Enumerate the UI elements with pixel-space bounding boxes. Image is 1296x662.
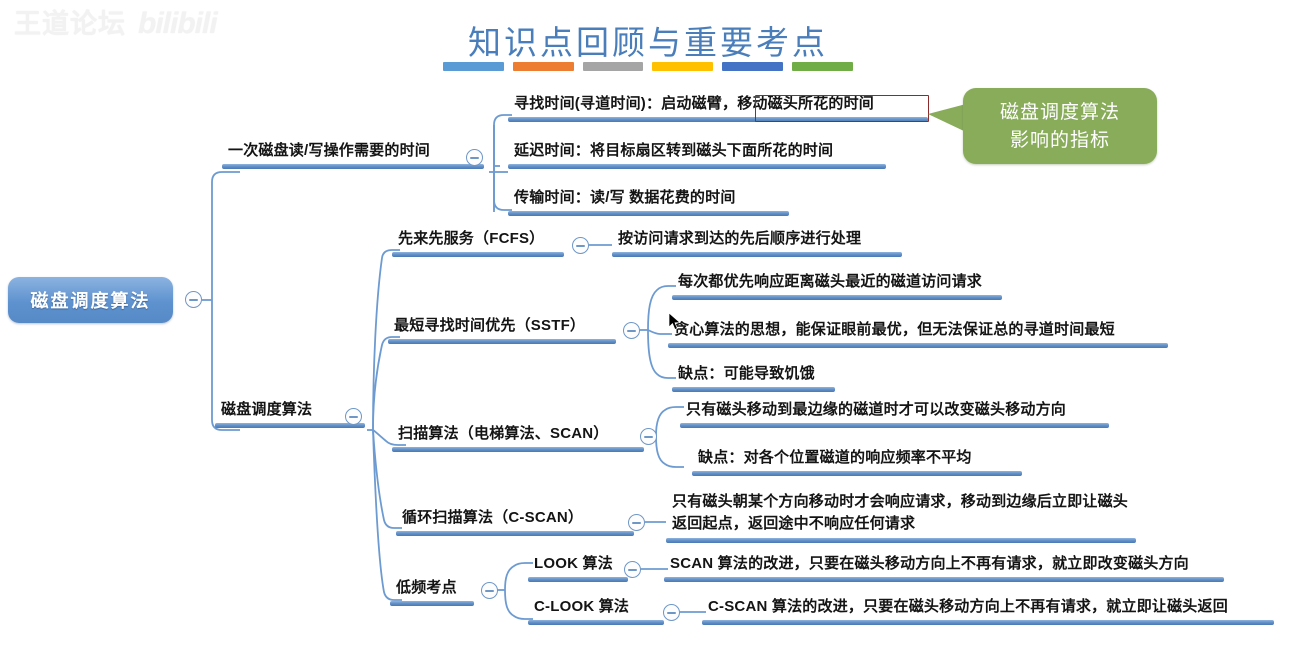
title-bar-3 xyxy=(583,62,644,71)
toggle-clook[interactable] xyxy=(663,604,680,621)
node-sstf-desc-1-label: 每次都优先响应距离磁头最近的磁道访问请求 xyxy=(672,272,1002,295)
mouse-cursor xyxy=(668,312,682,332)
title-bar-5 xyxy=(722,62,783,71)
node-clook[interactable]: C-LOOK 算法 xyxy=(528,597,664,625)
node-underline xyxy=(508,164,886,169)
node-scan-desc-1[interactable]: 只有磁头移动到最边缘的磁道时才可以改变磁头移动方向 xyxy=(680,400,1109,428)
node-underline xyxy=(528,577,628,582)
title-bar-1 xyxy=(443,62,504,71)
node-look-desc-label: SCAN 算法的改进，只要在磁头移动方向上不再有请求，就立即改变磁头方向 xyxy=(664,554,1224,577)
node-underline xyxy=(702,620,1274,625)
node-underline xyxy=(664,577,1224,582)
node-clook-label: C-LOOK 算法 xyxy=(528,597,664,620)
node-underline xyxy=(668,343,1168,348)
node-scan[interactable]: 扫描算法（电梯算法、SCAN） xyxy=(392,424,644,452)
node-scan-desc-1-label: 只有磁头移动到最边缘的磁道时才可以改变磁头移动方向 xyxy=(680,400,1109,423)
node-sstf-desc-2-label: 贪心算法的思想，能保证眼前最优，但无法保证总的寻道时间最短 xyxy=(668,320,1168,343)
node-clook-desc-label: C-SCAN 算法的改进，只要在磁头移动方向上不再有请求，就立即让磁头返回 xyxy=(702,597,1274,620)
node-cscan-desc-label: 只有磁头朝某个方向移动时才会响应请求，移动到边缘后立即让磁头返回起点，返回途中不… xyxy=(666,491,1136,538)
node-low-frequency-topics-label: 低频考点 xyxy=(390,578,474,601)
node-underline xyxy=(680,423,1109,428)
root-node[interactable]: 磁盘调度算法 xyxy=(8,277,173,323)
node-underline xyxy=(692,471,1022,476)
callout-line-2: 影响的指标 xyxy=(1010,126,1110,154)
node-fcfs[interactable]: 先来先服务（FCFS） xyxy=(392,229,564,257)
node-scan-label: 扫描算法（电梯算法、SCAN） xyxy=(392,424,644,447)
callout-line-1: 磁盘调度算法 xyxy=(1000,98,1120,126)
node-sstf-label: 最短寻找时间优先（SSTF） xyxy=(388,316,616,339)
node-underline xyxy=(392,252,564,257)
highlight-box-move-head-time xyxy=(755,95,929,122)
node-disk-io-time[interactable]: 一次磁盘读/写操作需要的时间 xyxy=(222,141,484,169)
node-fcfs-desc-label: 按访问请求到达的先后顺序进行处理 xyxy=(612,229,902,252)
node-underline xyxy=(215,423,365,428)
toggle-disk-io-time[interactable] xyxy=(466,149,483,166)
callout-tail xyxy=(928,104,966,132)
node-scan-desc-2-label: 缺点：对各个位置磁道的响应频率不平均 xyxy=(692,448,1022,471)
node-transfer-time-label: 传输时间：读/写 数据花费的时间 xyxy=(508,188,789,211)
toggle-low-frequency-topics[interactable] xyxy=(481,582,498,599)
node-sstf-desc-3-label: 缺点：可能导致饥饿 xyxy=(672,364,835,387)
toggle-disk-scheduling-algorithms[interactable] xyxy=(345,408,362,425)
node-cscan[interactable]: 循环扫描算法（C-SCAN） xyxy=(396,508,634,536)
toggle-scan[interactable] xyxy=(640,428,657,445)
title-bar-6 xyxy=(792,62,853,71)
node-underline xyxy=(528,620,664,625)
node-scan-desc-2[interactable]: 缺点：对各个位置磁道的响应频率不平均 xyxy=(692,448,1022,476)
node-disk-scheduling-algorithms[interactable]: 磁盘调度算法 xyxy=(215,400,365,428)
toggle-cscan[interactable] xyxy=(628,514,645,531)
title-bar-4 xyxy=(652,62,713,71)
node-look-label: LOOK 算法 xyxy=(528,554,628,577)
toggle-look[interactable] xyxy=(624,561,641,578)
node-underline xyxy=(390,601,474,606)
node-rotational-delay-label: 延迟时间：将目标扇区转到磁头下面所花的时间 xyxy=(508,141,886,164)
node-sstf-desc-1[interactable]: 每次都优先响应距离磁头最近的磁道访问请求 xyxy=(672,272,1002,300)
callout-metric-note: 磁盘调度算法 影响的指标 xyxy=(963,88,1157,164)
node-fcfs-label: 先来先服务（FCFS） xyxy=(392,229,564,252)
node-underline xyxy=(222,164,484,169)
node-underline xyxy=(672,295,1002,300)
node-underline xyxy=(666,538,1136,543)
toggle-sstf[interactable] xyxy=(623,322,640,339)
node-cscan-desc[interactable]: 只有磁头朝某个方向移动时才会响应请求，移动到边缘后立即让磁头返回起点，返回途中不… xyxy=(666,491,1136,543)
node-disk-io-time-label: 一次磁盘读/写操作需要的时间 xyxy=(222,141,484,164)
title-bar-2 xyxy=(513,62,574,71)
node-clook-desc[interactable]: C-SCAN 算法的改进，只要在磁头移动方向上不再有请求，就立即让磁头返回 xyxy=(702,597,1274,625)
node-sstf[interactable]: 最短寻找时间优先（SSTF） xyxy=(388,316,616,344)
title-decoration-bars xyxy=(443,62,853,71)
node-rotational-delay[interactable]: 延迟时间：将目标扇区转到磁头下面所花的时间 xyxy=(508,141,886,169)
toggle-root[interactable] xyxy=(185,291,202,308)
node-look[interactable]: LOOK 算法 xyxy=(528,554,628,582)
node-underline xyxy=(508,211,789,216)
node-underline xyxy=(672,387,835,392)
node-underline xyxy=(392,447,644,452)
node-look-desc[interactable]: SCAN 算法的改进，只要在磁头移动方向上不再有请求，就立即改变磁头方向 xyxy=(664,554,1224,582)
node-low-frequency-topics[interactable]: 低频考点 xyxy=(390,578,474,606)
node-transfer-time[interactable]: 传输时间：读/写 数据花费的时间 xyxy=(508,188,789,216)
root-node-label: 磁盘调度算法 xyxy=(31,287,151,313)
node-underline xyxy=(388,339,616,344)
page-title: 知识点回顾与重要考点 xyxy=(0,16,1296,64)
node-sstf-desc-2[interactable]: 贪心算法的思想，能保证眼前最优，但无法保证总的寻道时间最短 xyxy=(668,320,1168,348)
node-sstf-desc-3[interactable]: 缺点：可能导致饥饿 xyxy=(672,364,835,392)
mindmap-canvas: 王道论坛bilibili 知识点回顾与重要考点 xyxy=(0,0,1296,662)
node-underline xyxy=(396,531,634,536)
node-disk-scheduling-algorithms-label: 磁盘调度算法 xyxy=(215,400,365,423)
node-cscan-label: 循环扫描算法（C-SCAN） xyxy=(396,508,634,531)
node-fcfs-desc[interactable]: 按访问请求到达的先后顺序进行处理 xyxy=(612,229,902,257)
node-underline xyxy=(612,252,902,257)
toggle-fcfs[interactable] xyxy=(572,237,589,254)
